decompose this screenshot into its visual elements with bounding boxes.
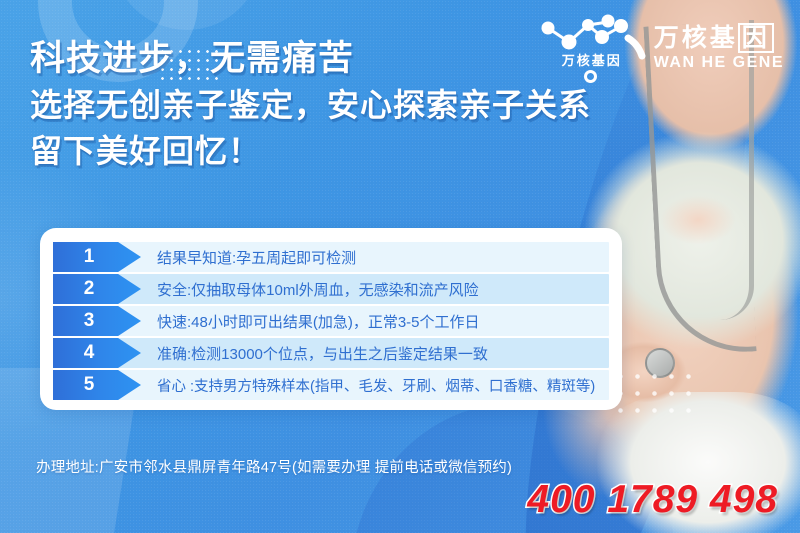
brand-wordmark: 万核基因 WAN HE GENE [654, 23, 784, 73]
headline-line-3: 留下美好回忆！ [30, 129, 591, 174]
list-item: 2 安全:仅抽取母体10ml外周血，无感染和流产风险 [53, 274, 609, 304]
logo-ring-icon [584, 70, 597, 83]
brand-name-en: WAN HE GENE [654, 53, 784, 73]
list-item: 4 准确:检测13000个位点，与出生之后鉴定结果一致 [53, 338, 609, 368]
photo-upper-hand [656, 190, 742, 250]
office-address: 办理地址:广安市邻水县鼎屏青年路47号(如需要办理 提前电话或微信预约) [36, 456, 512, 477]
dna-molecule-icon: 万核基因 [536, 12, 646, 84]
hotline-phone-number: 400 1789 498 [527, 478, 778, 522]
list-item: 3 快速:48小时即可出结果(加急)，正常3-5个工作日 [53, 306, 609, 336]
list-item-label: 快速:48小时即可出结果(加急)，正常3-5个工作日 [157, 311, 480, 332]
headline-line-1: 科技进步，无需痛苦 [30, 36, 591, 82]
logo-mark-label: 万核基因 [542, 50, 642, 69]
list-item: 1 结果早知道:孕五周起即可检测 [53, 242, 609, 272]
feature-list: 1 结果早知道:孕五周起即可检测 2 安全:仅抽取母体10ml外周血，无感染和流… [53, 242, 609, 402]
dot-grid-pattern-bottom [612, 368, 696, 420]
brand-name-cn: 万核基因 [654, 23, 784, 53]
brand-logo: 万核基因 万核基因 WAN HE GENE [536, 12, 784, 84]
list-item-label: 安全:仅抽取母体10ml外周血，无感染和流产风险 [157, 279, 479, 300]
list-item: 5 省心 :支持男方特殊样本(指甲、毛发、牙刷、烟蒂、口香糖、精斑等) [53, 370, 609, 400]
headline-line-2: 选择无创亲子鉴定，安心探索亲子关系 [30, 82, 591, 129]
list-item-label: 结果早知道:孕五周起即可检测 [157, 247, 356, 268]
list-item-label: 准确:检测13000个位点，与出生之后鉴定结果一致 [157, 343, 488, 364]
list-item-label: 省心 :支持男方特殊样本(指甲、毛发、牙刷、烟蒂、口香糖、精斑等) [157, 375, 595, 396]
feature-card: 1 结果早知道:孕五周起即可检测 2 安全:仅抽取母体10ml外周血，无感染和流… [40, 228, 622, 410]
headline-block: 科技进步，无需痛苦 选择无创亲子鉴定，安心探索亲子关系 留下美好回忆！ [30, 36, 591, 174]
brand-name-cn-boxed: 因 [738, 23, 774, 53]
brand-name-cn-prefix: 万核基 [654, 24, 738, 52]
promotional-poster: 万核基因 万核基因 WAN HE GENE 科技进步，无需痛苦 选择无创亲子鉴定… [0, 0, 800, 533]
